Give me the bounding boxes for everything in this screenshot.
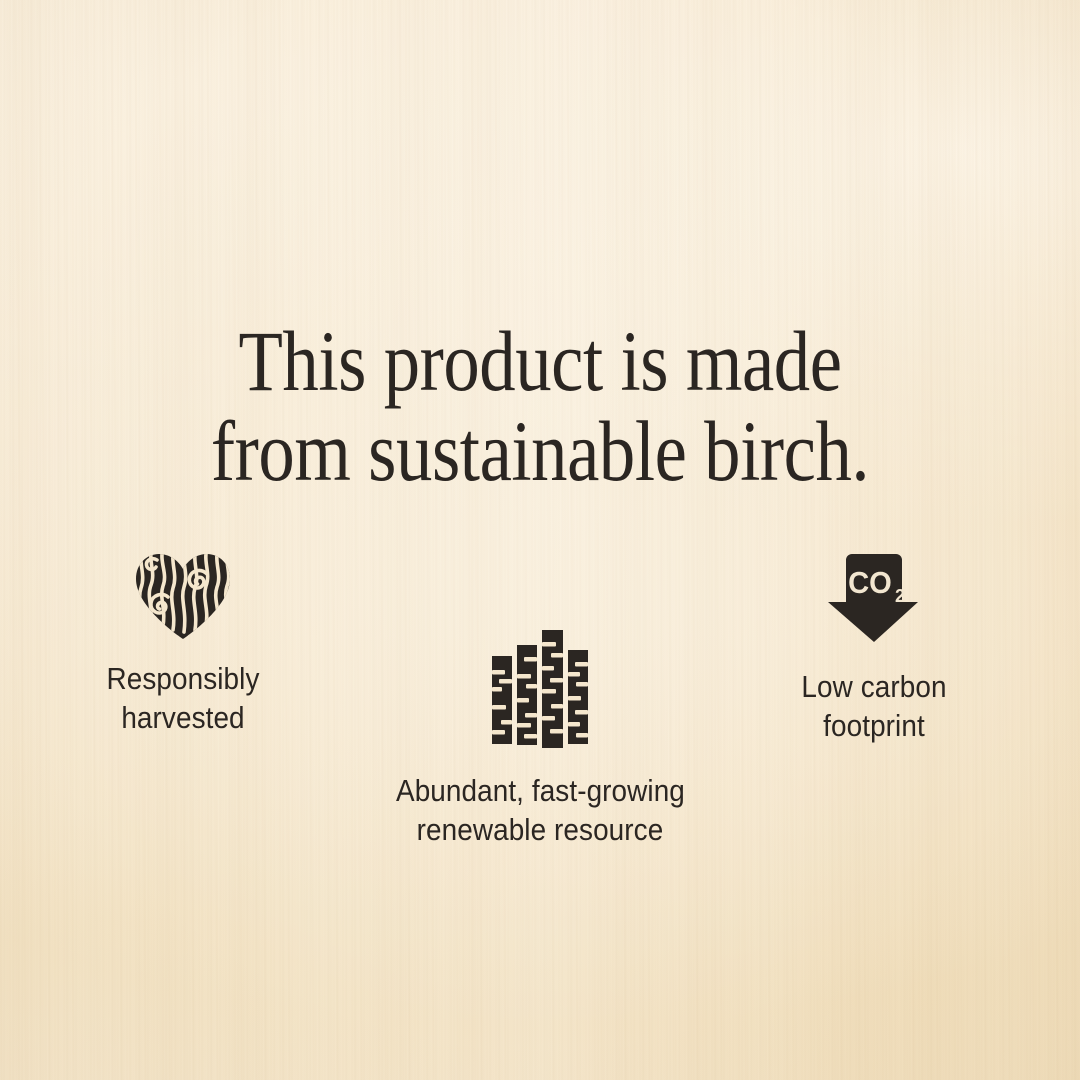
co2-icon-text: CO xyxy=(848,566,892,600)
feature-label-renewable-resource: Abundant, fast-growing renewable resourc… xyxy=(396,771,684,849)
plywood-vignette xyxy=(0,0,1080,1080)
feature-responsibly-harvested: Responsibly harvested xyxy=(43,552,323,737)
feature-label-line-1: Responsibly xyxy=(57,659,309,698)
feature-label-line-2: renewable resource xyxy=(396,810,684,849)
feature-label-responsibly-harvested: Responsibly harvested xyxy=(57,659,309,737)
co2-down-arrow-icon: CO 2 xyxy=(820,552,928,644)
feature-label-line-2: harvested xyxy=(57,698,309,737)
wood-grain-heart-icon xyxy=(133,552,233,640)
feature-label-low-carbon-footprint: Low carbon footprint xyxy=(748,667,1000,745)
feature-label-line-2: footprint xyxy=(748,706,1000,745)
headline-line-1: This product is made xyxy=(84,316,997,406)
co2-icon-subscript: 2 xyxy=(895,586,905,606)
page-title: This product is made from sustainable bi… xyxy=(84,316,997,496)
birch-trunks-icon xyxy=(488,626,592,748)
headline-line-2: from sustainable birch. xyxy=(84,406,997,496)
birch-panel-poster: This product is made from sustainable bi… xyxy=(0,0,1080,1080)
feature-label-line-1: Abundant, fast-growing xyxy=(396,771,684,810)
feature-label-line-1: Low carbon xyxy=(748,667,1000,706)
feature-low-carbon-footprint: CO 2 Low carbon footprint xyxy=(734,552,1014,745)
feature-renewable-resource: Abundant, fast-growing renewable resourc… xyxy=(380,626,700,849)
